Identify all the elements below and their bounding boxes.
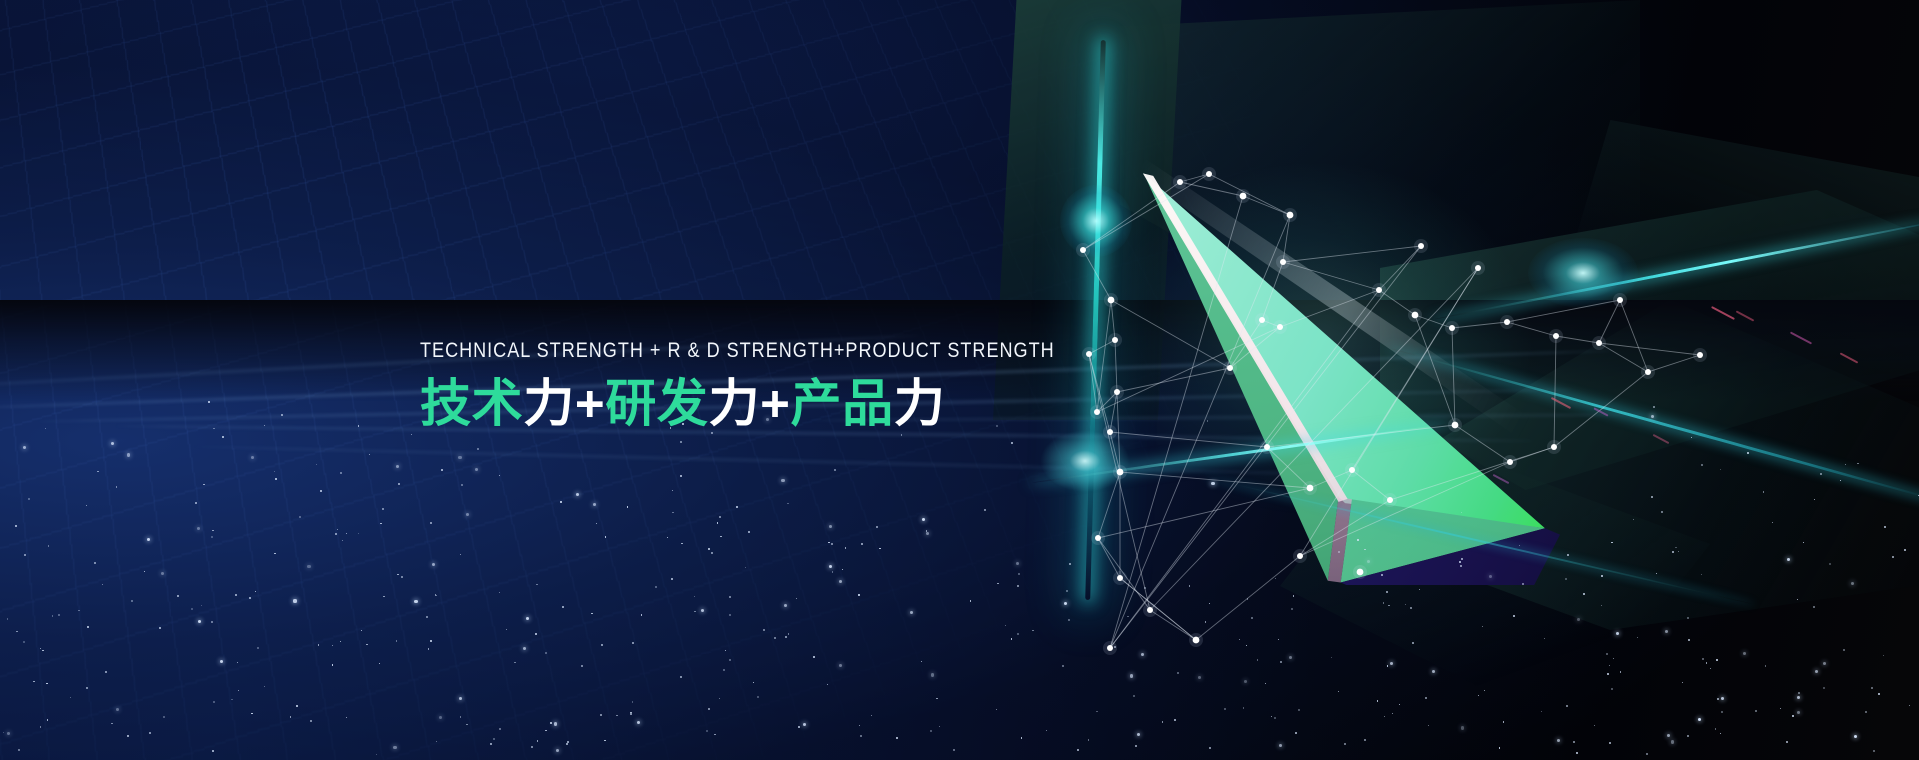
particle-dot	[220, 660, 223, 663]
particle-dot	[439, 716, 442, 719]
particle-dot	[706, 730, 708, 732]
particle-dot	[1018, 573, 1020, 575]
particle-dot	[1721, 711, 1723, 713]
particle-dot	[24, 554, 26, 556]
particle-dot	[680, 676, 682, 678]
network-node	[1206, 171, 1212, 177]
particle-dot	[1763, 491, 1764, 492]
particle-dot	[23, 641, 25, 643]
particle-dot	[601, 644, 602, 645]
particle-dot	[953, 749, 954, 750]
particle-dot	[1144, 587, 1146, 589]
particle-dot	[545, 652, 547, 654]
particle-dot	[1687, 735, 1689, 737]
particle-dot	[711, 552, 712, 553]
particle-dot	[931, 673, 934, 676]
particle-dot	[1032, 630, 1033, 631]
particle-dot	[637, 721, 640, 724]
particle-dot	[1068, 619, 1070, 621]
network-node	[1376, 287, 1382, 293]
particle-dot	[436, 741, 437, 742]
network-edges	[1083, 174, 1700, 648]
network-node	[1280, 259, 1286, 265]
particle-dot	[785, 636, 787, 638]
particle-dot	[231, 699, 232, 700]
network-node	[1418, 243, 1424, 249]
particle-dot	[1364, 549, 1365, 550]
network-node	[1504, 319, 1510, 325]
particle-dot	[383, 596, 384, 597]
network-node	[1080, 247, 1086, 253]
particle-dot	[694, 611, 695, 612]
particle-dot	[1651, 415, 1654, 418]
particle-dot	[340, 641, 341, 642]
network-node	[1147, 607, 1153, 613]
particle-dot	[475, 468, 478, 471]
particle-dot	[111, 723, 112, 724]
particle-dot	[1289, 656, 1292, 659]
network-node	[1387, 497, 1393, 503]
particle-dot	[1747, 452, 1749, 454]
headline-segment-6: 产品	[791, 375, 894, 432]
particle-dot	[1280, 661, 1282, 663]
particle-dot	[984, 509, 985, 510]
network-nodes	[1076, 167, 1707, 655]
particle-dot	[1279, 744, 1282, 747]
particle-dot	[997, 583, 998, 584]
particle-dot	[671, 578, 673, 580]
particle-dot	[711, 432, 712, 433]
network-node	[1177, 179, 1183, 185]
particle-dot	[149, 732, 151, 734]
hero-copy: TECHNICAL STRENGTH + R & D STRENGTH+PROD…	[420, 340, 1158, 431]
network-node	[1507, 459, 1513, 465]
particle-dot	[111, 442, 114, 445]
particle-dot	[748, 531, 750, 533]
headline-segment-3: 研发	[605, 375, 708, 432]
hero-banner: TECHNICAL STRENGTH + R & D STRENGTH+PROD…	[0, 0, 1919, 760]
particle-dot	[1295, 732, 1297, 734]
particle-dot	[1243, 707, 1244, 708]
particle-dot	[554, 722, 557, 725]
particle-dot	[871, 715, 872, 716]
particle-dot	[593, 503, 596, 506]
particle-dot	[94, 562, 96, 564]
particle-dot	[58, 614, 60, 616]
particle-dot	[1162, 721, 1163, 722]
particle-dot	[275, 478, 277, 480]
particle-dot	[566, 743, 568, 745]
particle-dot	[163, 716, 165, 718]
particle-dot	[1823, 687, 1825, 689]
particle-dot	[1011, 638, 1012, 639]
network-node	[1596, 340, 1602, 346]
particle-dot	[361, 630, 362, 631]
particle-dot	[366, 644, 367, 645]
particle-dot	[1247, 598, 1248, 599]
particle-dot	[161, 572, 164, 575]
particle-dot	[1576, 752, 1577, 753]
particle-dot	[1461, 558, 1462, 559]
particle-dot	[459, 697, 462, 700]
particle-dot	[414, 600, 417, 603]
particle-dot	[781, 479, 784, 482]
particle-dot	[18, 749, 19, 750]
particle-dot	[127, 453, 130, 456]
particle-dot	[1583, 593, 1585, 595]
particle-dot	[829, 565, 832, 568]
particle-dot	[1688, 639, 1690, 641]
network-node	[1553, 333, 1559, 339]
particle-dot	[901, 434, 902, 435]
particle-dot	[1873, 750, 1875, 752]
network-node	[1264, 444, 1270, 450]
particle-dot	[340, 472, 342, 474]
particle-dot	[1130, 674, 1133, 677]
particle-dot	[281, 414, 283, 416]
particle-dot	[52, 615, 53, 616]
network-node	[1240, 193, 1247, 200]
particle-dot	[1706, 662, 1707, 663]
particle-dot	[1765, 665, 1766, 666]
particle-dot	[1432, 670, 1435, 673]
particle-dot	[398, 483, 400, 485]
particle-dot	[332, 664, 333, 665]
particle-dot	[550, 722, 552, 724]
network-node	[1475, 265, 1481, 271]
particle-dot	[1606, 653, 1608, 655]
particle-dot	[680, 475, 681, 476]
particle-dot	[1616, 632, 1619, 635]
particle-dot	[1011, 442, 1013, 444]
particle-dot	[70, 697, 71, 698]
particle-dot	[458, 456, 461, 459]
particle-dot	[536, 584, 537, 585]
particle-dot	[1651, 496, 1653, 498]
headline-segment-1: 力	[523, 375, 575, 432]
particle-dot	[632, 701, 633, 702]
particle-dot	[78, 610, 79, 611]
particle-dot	[1611, 542, 1612, 543]
particle-dot	[717, 522, 718, 523]
particle-dot	[708, 548, 710, 550]
network-node	[1307, 485, 1314, 492]
particle-dot	[1017, 585, 1019, 587]
particle-dot	[1114, 646, 1116, 648]
particle-dot	[213, 701, 215, 703]
particle-dot	[116, 486, 117, 487]
particle-dot	[1613, 658, 1614, 659]
network-node	[1645, 369, 1651, 375]
particle-dot	[604, 740, 605, 741]
particle-dot	[1265, 683, 1266, 684]
particle-dot	[1133, 695, 1135, 697]
particle-dot	[48, 545, 49, 546]
particle-dot	[858, 594, 859, 595]
particle-dot	[127, 735, 128, 736]
particle-dot	[720, 536, 721, 537]
particle-dot	[829, 525, 832, 528]
particle-dot	[803, 723, 806, 726]
particle-dot	[1381, 574, 1383, 576]
particle-dot	[591, 613, 592, 614]
particle-dot	[545, 730, 546, 731]
particle-dot	[380, 523, 381, 524]
particle-dot	[1069, 563, 1071, 565]
particle-dot	[1620, 671, 1621, 672]
particle-dot	[936, 698, 937, 699]
particle-dot	[47, 719, 48, 720]
particle-dot	[28, 498, 30, 500]
network-node	[1617, 297, 1623, 303]
particle-dot	[293, 599, 296, 602]
network-node	[1349, 467, 1355, 473]
particle-dot	[1851, 582, 1854, 585]
network-node	[1412, 312, 1419, 319]
particle-dot	[393, 746, 396, 749]
particle-dot	[430, 522, 432, 524]
network-node	[1287, 212, 1294, 219]
particle-dot	[672, 512, 673, 513]
particle-dot	[1461, 726, 1464, 729]
particle-dot	[860, 735, 862, 737]
headline-segment-2: +	[575, 375, 605, 432]
hero-headline: 技术力+研发力+产品力	[420, 377, 1158, 431]
particle-dot	[1701, 464, 1703, 466]
particle-dot	[1088, 739, 1089, 740]
particle-dot	[1459, 561, 1461, 563]
particle-dot	[318, 644, 319, 645]
network-node	[1108, 297, 1115, 304]
network-node	[1107, 645, 1113, 651]
particle-dot	[926, 532, 929, 535]
particle-dot	[714, 734, 715, 735]
particle-dot	[1384, 716, 1385, 717]
particle-dot	[15, 525, 16, 526]
particle-dot	[1189, 585, 1190, 586]
particle-dot	[1702, 658, 1704, 660]
particle-dot	[719, 698, 720, 699]
particle-dot	[490, 743, 491, 744]
network-node	[1277, 324, 1283, 330]
particle-dot	[1878, 693, 1880, 695]
network-node	[1357, 569, 1364, 576]
headline-segment-7: 力	[894, 375, 946, 432]
particle-dot	[42, 650, 43, 651]
particle-dot	[1209, 603, 1210, 604]
particle-dot	[1410, 607, 1412, 609]
headline-segment-4: 力	[709, 375, 761, 432]
particle-dot	[1871, 687, 1873, 689]
particle-dot	[627, 506, 628, 507]
particle-dot	[460, 554, 461, 555]
particle-dot	[203, 484, 204, 485]
network-node	[1452, 422, 1459, 429]
network-node	[1117, 469, 1124, 476]
particle-dot	[1364, 739, 1366, 741]
network-node	[1117, 575, 1123, 581]
headline-segment-0: 技术	[420, 375, 523, 432]
particle-dot	[290, 716, 291, 717]
particle-dot	[839, 664, 842, 667]
particle-dot	[567, 741, 569, 743]
particle-dot	[274, 553, 275, 554]
particle-dot	[460, 716, 461, 717]
network-node	[1095, 535, 1101, 541]
particle-dot	[466, 513, 469, 516]
particle-dot	[970, 600, 971, 601]
particle-dot	[831, 543, 833, 545]
particle-dot	[1461, 512, 1462, 513]
particle-dot	[1298, 709, 1299, 710]
network-node	[1193, 637, 1200, 644]
particle-dot	[1062, 665, 1064, 667]
particle-dot	[632, 642, 634, 644]
particle-dot	[1503, 721, 1504, 722]
particle-dot	[1399, 704, 1400, 705]
particle-dot	[102, 584, 103, 585]
particle-dot	[235, 594, 237, 596]
particle-dot	[208, 401, 210, 403]
network-node	[1697, 352, 1703, 358]
particle-dot	[1251, 617, 1253, 619]
particle-dot	[1607, 673, 1609, 675]
hero-eyebrow: TECHNICAL STRENGTH + R & D STRENGTH+PROD…	[420, 340, 1055, 361]
particle-dot	[320, 490, 322, 492]
particle-dot	[358, 425, 359, 426]
particle-dot	[1066, 590, 1067, 591]
particle-dot	[828, 542, 829, 543]
network-node	[1297, 553, 1303, 559]
particle-dot	[40, 726, 41, 727]
particle-dot	[1721, 697, 1724, 700]
particle-dot	[562, 606, 564, 608]
particle-dot	[432, 563, 435, 566]
particle-dot	[560, 501, 561, 502]
particle-dot	[131, 600, 132, 601]
particle-dot	[930, 730, 932, 732]
network-node	[1259, 317, 1265, 323]
particle-dot	[813, 656, 815, 658]
headline-segment-5: +	[760, 375, 790, 432]
particle-dot	[7, 732, 10, 735]
particle-dot	[757, 696, 759, 698]
network-node	[1227, 365, 1233, 371]
particle-dot	[310, 720, 312, 722]
particle-dot	[307, 565, 310, 568]
network-node	[1449, 325, 1455, 331]
particle-dot	[788, 633, 789, 634]
particle-dot	[46, 683, 47, 684]
network-node	[1551, 444, 1557, 450]
particle-dot	[1671, 740, 1674, 743]
particle-dot	[1820, 473, 1822, 475]
particle-dot	[1661, 511, 1662, 512]
particle-dot	[1174, 719, 1176, 721]
particle-dot	[879, 548, 880, 549]
particle-dot	[798, 726, 800, 728]
particle-dot	[1499, 747, 1500, 748]
particle-dot	[1743, 652, 1746, 655]
